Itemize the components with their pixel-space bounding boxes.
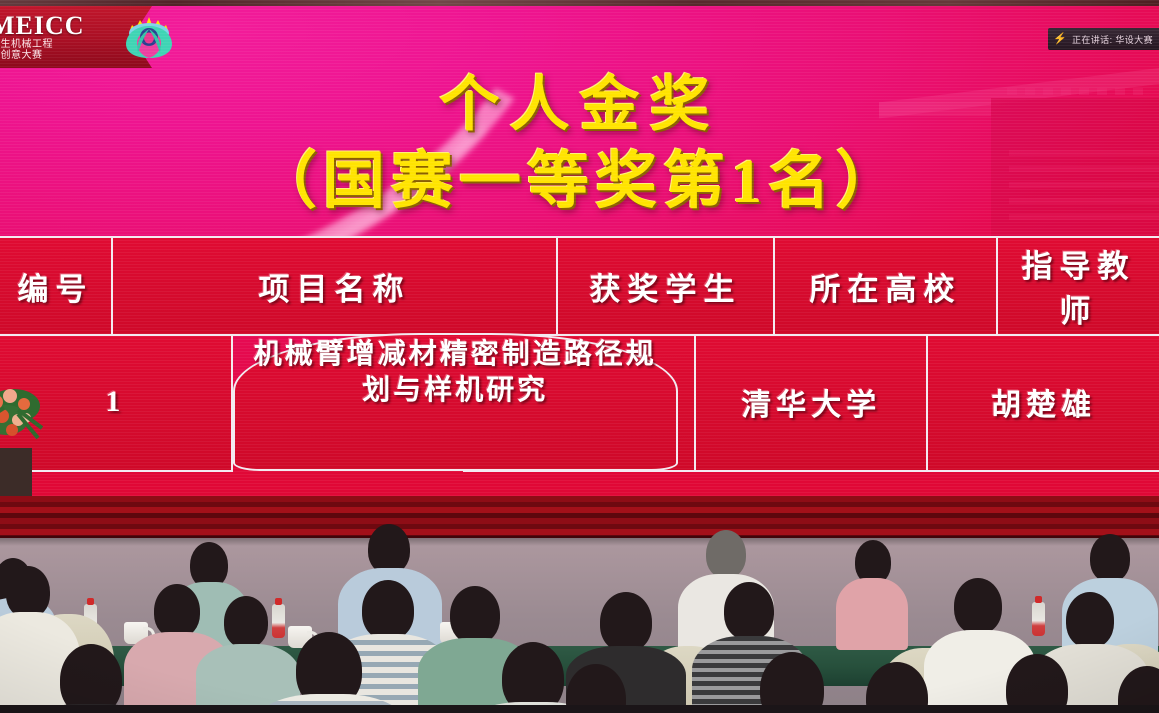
award-table: 编号 项目名称 获奖学生 所在高校 指导教师 1 机械臂增减材精密制造路径规划与… xyxy=(0,236,1159,472)
presentation-screen: MEICC 学生机械工程 新创意大赛 ⚡ 正在讲话: xyxy=(0,0,1159,496)
slide-subtitle: （国赛一等奖第1名） xyxy=(0,130,1159,220)
column-header-id: 编号 xyxy=(0,237,112,335)
audience-area xyxy=(0,496,1159,713)
person-head xyxy=(706,530,746,578)
stage-skirt xyxy=(0,496,1159,538)
person-head xyxy=(6,566,50,618)
column-header-school: 所在高校 xyxy=(774,237,997,335)
person-head xyxy=(368,524,410,574)
person-head xyxy=(60,644,122,713)
table-header-row: 编号 项目名称 获奖学生 所在高校 指导教师 xyxy=(0,236,1159,336)
cell-project: 机械臂增减材精密制造路径规划与样机研究 xyxy=(233,333,678,471)
person-head xyxy=(1066,592,1114,648)
person-head xyxy=(450,586,500,644)
column-header-project: 项目名称 xyxy=(112,237,557,335)
water-bottle xyxy=(1032,602,1045,636)
person-head xyxy=(224,596,268,648)
live-caption-ticker: ⚡ 正在讲话: 华设大赛 xyxy=(1048,28,1159,50)
stage-shadow xyxy=(0,536,1159,546)
column-header-student: 获奖学生 xyxy=(557,237,774,335)
lightning-icon: ⚡ xyxy=(1053,34,1067,45)
person-head xyxy=(724,582,774,640)
broadcast-frame: MEICC 学生机械工程 新创意大赛 ⚡ 正在讲话: xyxy=(0,0,1159,713)
person-head xyxy=(362,580,414,640)
person-body xyxy=(836,578,908,650)
person-head xyxy=(954,578,1002,634)
table-row: 1 机械臂增减材精密制造路径规划与样机研究 王煜楠 清华大学 胡楚雄 xyxy=(0,333,1159,471)
water-bottle xyxy=(272,604,285,638)
person-head xyxy=(1090,534,1130,582)
lotus-emblem-icon xyxy=(118,11,180,61)
person-head xyxy=(154,584,200,638)
column-header-teacher: 指导教师 xyxy=(997,237,1159,335)
person-head xyxy=(600,592,652,652)
bottom-edge xyxy=(0,705,1159,713)
cell-teacher: 胡楚雄 xyxy=(927,333,1159,471)
flower-arrangement xyxy=(0,362,60,496)
live-caption-text: 正在讲话: 华设大赛 xyxy=(1072,33,1153,46)
cell-school: 清华大学 xyxy=(695,333,927,471)
